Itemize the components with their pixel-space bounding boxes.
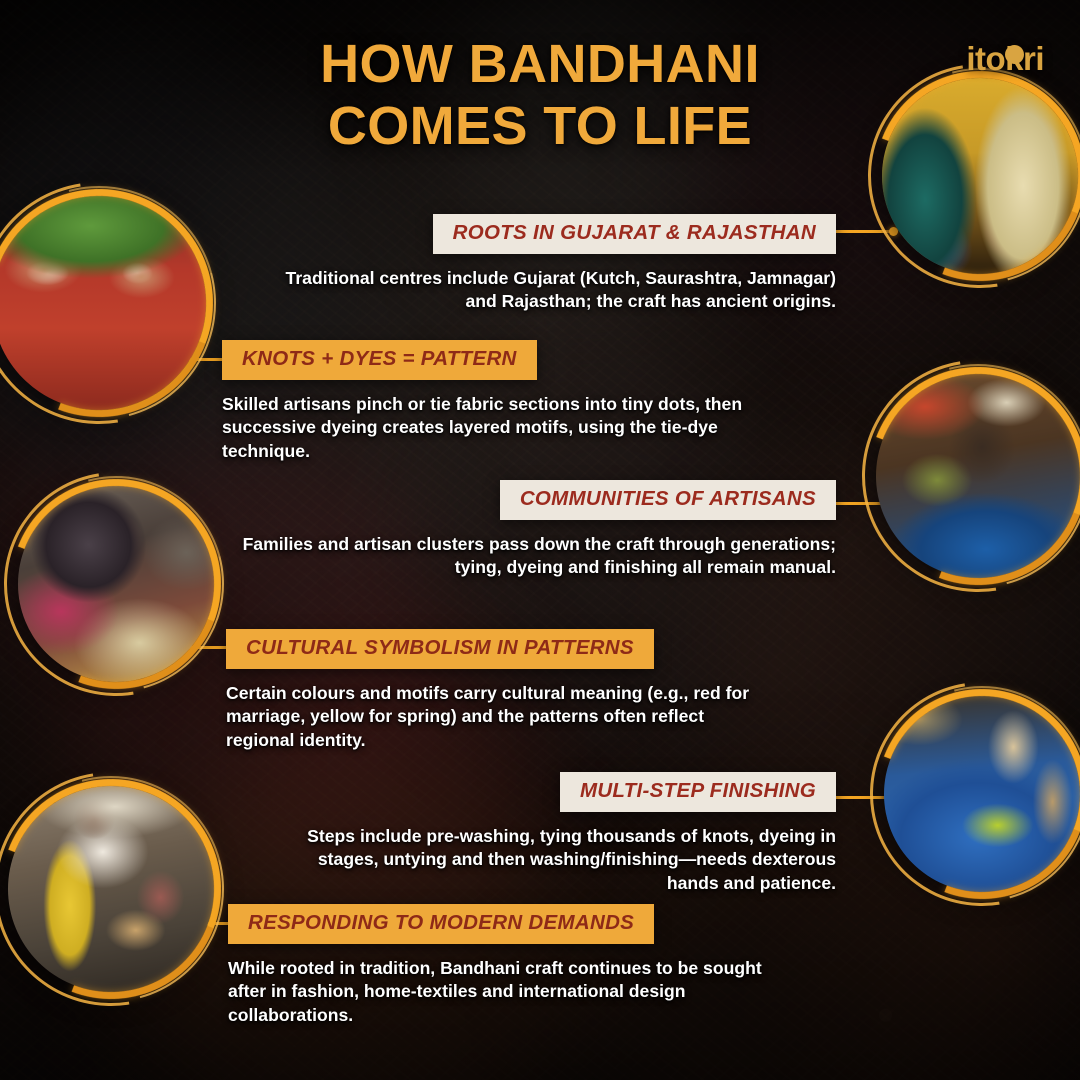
- step-6: RESPONDING TO MODERN DEMANDS While roote…: [228, 904, 776, 1027]
- step-1-banner[interactable]: ROOTS IN GUJARAT & RAJASTHAN: [433, 214, 836, 254]
- photo-man-lifting-yellow-skein: [8, 786, 214, 992]
- step-5-banner[interactable]: MULTI-STEP FINISHING: [560, 772, 836, 812]
- photo-image: [0, 196, 206, 410]
- step-5: MULTI-STEP FINISHING Steps include pre-w…: [300, 772, 836, 895]
- step-4-body: Certain colours and motifs carry cultura…: [226, 682, 766, 753]
- photo-image: [884, 696, 1080, 892]
- step-4-banner[interactable]: CULTURAL SYMBOLISM IN PATTERNS: [226, 629, 654, 669]
- step-5-body: Steps include pre-washing, tying thousan…: [300, 825, 836, 896]
- photo-image: [8, 786, 214, 992]
- infographic-poster: HOW BANDHANI COMES TO LIFE itokri: [0, 0, 1080, 1080]
- step-1: ROOTS IN GUJARAT & RAJASTHAN Traditional…: [280, 214, 836, 314]
- step-2-body: Skilled artisans pinch or tie fabric sec…: [222, 393, 760, 464]
- step-6-body: While rooted in tradition, Bandhani craf…: [228, 957, 776, 1028]
- title-line-1: HOW BANDHANI: [0, 34, 1080, 96]
- photo-hands-tying-red-fabric: [0, 196, 206, 410]
- photo-image: [18, 486, 214, 682]
- step-4: CULTURAL SYMBOLISM IN PATTERNS Certain c…: [226, 629, 766, 752]
- step-6-banner[interactable]: RESPONDING TO MODERN DEMANDS: [228, 904, 654, 944]
- itokri-logo[interactable]: itokri: [966, 40, 1044, 78]
- title-line-2: COMES TO LIFE: [0, 96, 1080, 158]
- photo-image: [876, 374, 1080, 578]
- step-3: COMMUNITIES OF ARTISANS Families and art…: [238, 480, 836, 580]
- step-3-body: Families and artisan clusters pass down …: [238, 533, 836, 580]
- step-2: KNOTS + DYES = PATTERN Skilled artisans …: [222, 340, 760, 463]
- photo-dyer-at-vat: [876, 374, 1080, 578]
- photo-indigo-dye-vat: [884, 696, 1080, 892]
- step-1-body: Traditional centres include Gujarat (Kut…: [280, 267, 836, 314]
- step-3-banner[interactable]: COMMUNITIES OF ARTISANS: [500, 480, 836, 520]
- step-2-banner[interactable]: KNOTS + DYES = PATTERN: [222, 340, 537, 380]
- photo-artisan-woman-working: [18, 486, 214, 682]
- page-title: HOW BANDHANI COMES TO LIFE: [0, 34, 1080, 157]
